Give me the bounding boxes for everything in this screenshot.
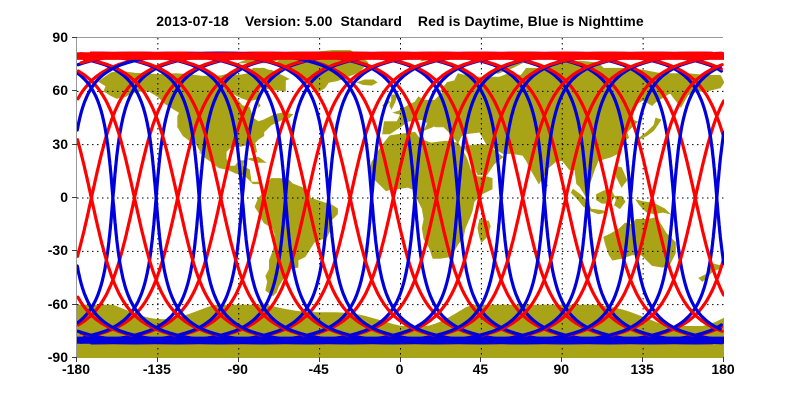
x-axis-tick-0 — [400, 357, 401, 362]
x-axis-tick--180 — [76, 357, 77, 362]
y-axis-label-0: 0 — [24, 190, 68, 204]
x-axis-tick-135 — [642, 357, 643, 362]
y-axis-label-60: 60 — [24, 83, 68, 97]
x-axis-label--180: -180 — [41, 362, 111, 376]
y-axis-label--30: -30 — [24, 243, 68, 257]
x-axis-tick-180 — [723, 357, 724, 362]
y-axis-tick-60 — [72, 90, 77, 91]
x-axis-label--45: -45 — [284, 362, 354, 376]
map-plot-area — [76, 37, 723, 357]
y-axis-tick-30 — [72, 144, 77, 145]
y-axis-tick--30 — [72, 250, 77, 251]
x-axis-label-0: 0 — [365, 362, 435, 376]
y-axis-tick--60 — [72, 304, 77, 305]
x-axis-tick--135 — [157, 357, 158, 362]
x-axis-tick--90 — [238, 357, 239, 362]
x-axis-tick-90 — [561, 357, 562, 362]
x-axis-label-45: 45 — [445, 362, 515, 376]
ground-track-figure: 2013-07-18 Version: 5.00 Standard Red is… — [0, 0, 800, 400]
y-axis-tick-0 — [72, 197, 77, 198]
y-axis-label-90: 90 — [24, 30, 68, 44]
y-axis-tick-90 — [72, 37, 77, 38]
x-axis-label--90: -90 — [203, 362, 273, 376]
y-axis-label--60: -60 — [24, 297, 68, 311]
x-axis-tick--45 — [319, 357, 320, 362]
x-axis-label--135: -135 — [122, 362, 192, 376]
figure-title: 2013-07-18 Version: 5.00 Standard Red is… — [0, 13, 800, 29]
y-axis-label-30: 30 — [24, 137, 68, 151]
map-canvas — [77, 38, 724, 358]
x-axis-label-90: 90 — [526, 362, 596, 376]
x-axis-label-135: 135 — [607, 362, 677, 376]
x-axis-tick-45 — [480, 357, 481, 362]
x-axis-label-180: 180 — [688, 362, 758, 376]
